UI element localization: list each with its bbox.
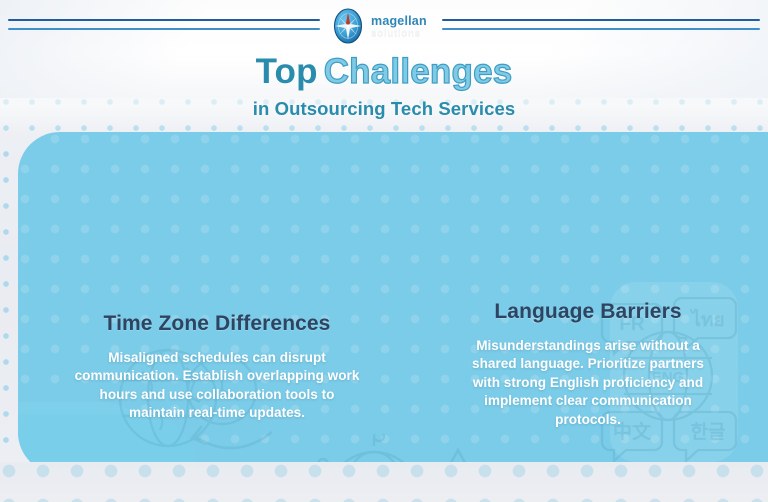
header-rule-right-bottom — [442, 28, 760, 30]
block-heading: Language Barriers — [416, 300, 760, 324]
block-body: Misunderstandings arise without a shared… — [416, 337, 760, 429]
content-panel: FR ไทย 中文 한글 ENG — [18, 132, 768, 474]
page-title: TopChallenges — [0, 52, 768, 92]
block-heading: Time Zone Differences — [52, 312, 382, 336]
header-rule-right-top — [442, 19, 760, 21]
page-title-part-1: Top — [256, 52, 318, 91]
page-title-part-2: Challenges — [324, 52, 513, 91]
brand-tagline: solutions — [371, 29, 427, 39]
brand-logo[interactable]: magellan solutions — [330, 6, 438, 46]
block-body: Misaligned schedules can disrupt communi… — [52, 349, 382, 423]
block-time-zone-differences: Time Zone Differences Misaligned schedul… — [52, 312, 382, 423]
brand-name: magellan — [371, 15, 427, 28]
header-rule-left-top — [8, 19, 320, 21]
infographic-canvas: magellan solutions TopChallenges in Outs… — [0, 0, 768, 502]
compass-rose-icon — [330, 8, 366, 44]
page-subtitle: in Outsourcing Tech Services — [0, 98, 768, 120]
bottom-dot-strip — [0, 462, 768, 502]
header-rule-left-bottom — [8, 28, 320, 30]
block-language-barriers: Language Barriers Misunderstandings aris… — [416, 300, 760, 429]
